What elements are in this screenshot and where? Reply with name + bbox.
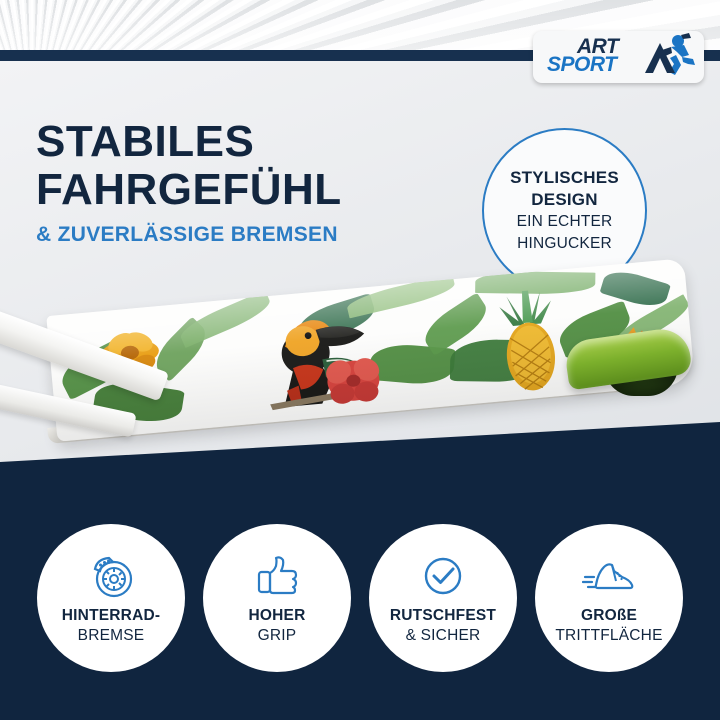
feature-label-line-2: TRITTFLÄCHE — [555, 626, 662, 646]
thumbs-up-icon — [254, 551, 300, 601]
check-circle-icon — [421, 551, 465, 601]
headline-line-2: FAHRGEFÜHL — [36, 166, 466, 214]
feature-label-line-1: RUTSCHFEST — [390, 606, 496, 626]
feature-label-line-1: GROßE — [581, 606, 637, 626]
headline-subline: & ZUVERLÄSSIGE BREMSEN — [36, 223, 466, 247]
brand-logo: ART SPORT — [533, 31, 704, 83]
headline-block: STABILES FAHRGEFÜHL & ZUVERLÄSSIGE BREMS… — [36, 118, 466, 247]
feature-label-line-1: HOHER — [249, 606, 306, 626]
badge-line-2: DESIGN — [531, 189, 597, 211]
badge-line-4: HINGUCKER — [517, 233, 612, 255]
feature-item-grip: HOHER GRIP — [203, 524, 351, 672]
logo-text-sport: SPORT — [547, 53, 616, 77]
feature-label-line-2: & SICHER — [406, 626, 481, 646]
running-man-icon — [629, 33, 697, 83]
feature-label-line-1: HINTERRAD- — [62, 606, 160, 626]
feature-label-line-2: BREMSE — [78, 626, 145, 646]
brake-disc-icon — [87, 551, 135, 601]
feature-item-antislip: RUTSCHFEST & SICHER — [369, 524, 517, 672]
feature-item-deck: GROßE TRITTFLÄCHE — [535, 524, 683, 672]
badge-line-1: STYLISCHES — [510, 167, 619, 189]
feature-list: HINTERRAD- BREMSE HOHER GRIP RUTSCHFEST — [0, 524, 720, 674]
sneaker-icon — [582, 551, 636, 601]
headline-line-1: STABILES — [36, 118, 466, 166]
feature-item-brake: HINTERRAD- BREMSE — [37, 524, 185, 672]
badge-line-3: EIN ECHTER — [517, 211, 613, 233]
feature-label-line-2: GRIP — [258, 626, 297, 646]
product-banner: ART SPORT STABILES FAHRGEFÜHL & ZUVERLÄS… — [0, 0, 720, 720]
